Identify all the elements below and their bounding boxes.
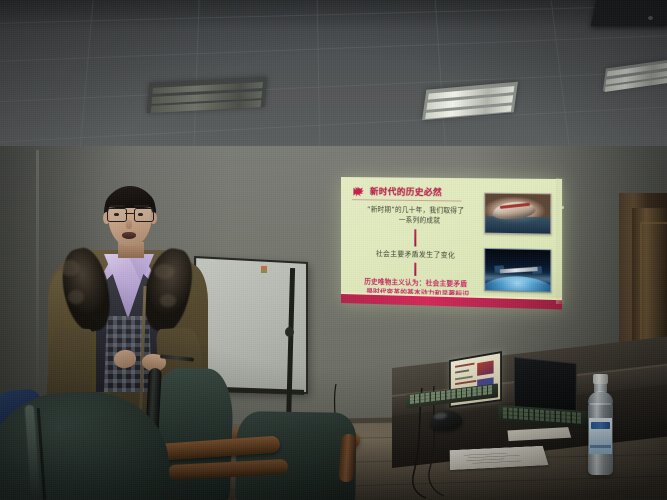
whiteboard-adjust-knob[interactable]: [285, 327, 294, 337]
slide-title: 新时代的历史必然: [370, 185, 442, 198]
bottle-label-text: [591, 422, 610, 429]
presenter-nose: [126, 220, 132, 229]
wall-corner-edge: [36, 150, 39, 390]
screen-highlight-dot: [561, 206, 564, 209]
slide-line-1: “新时期”的几十年，我们取得了: [355, 205, 477, 216]
down-arrow-2-icon: [414, 263, 417, 276]
bottle-label-stripe: [590, 445, 611, 448]
projected-slide: 新时代的历史必然 “新时期”的几十年，我们取得了 一系列的成就 社会主要矛盾发生…: [341, 177, 562, 310]
bottle-neck: [594, 383, 607, 392]
presenter-mouth-speaking: [122, 232, 136, 239]
ceiling-tile-grid: [0, 0, 667, 152]
slide-title-underline: [352, 199, 461, 201]
slide-title-row: 新时代的历史必然: [352, 185, 442, 198]
bottle-shoulder: [588, 391, 613, 405]
projector-lens-icon: [648, 16, 653, 20]
chair-right-green[interactable]: [235, 411, 357, 500]
whiteboard-magnet: [261, 266, 267, 273]
screen-right-edge-glow: [556, 178, 565, 304]
photo-sea-layer: [485, 216, 550, 233]
bottle-cap[interactable]: [593, 374, 608, 384]
water-bottle[interactable]: [586, 374, 615, 475]
slide-photo-space-station: [484, 248, 551, 293]
slide-line-2: 一系列的成就: [363, 215, 477, 226]
down-arrow-1-icon: [414, 229, 417, 246]
glasses-bridge: [125, 213, 134, 214]
slide-photo-submersible: [484, 193, 551, 235]
party-emblem-icon: [352, 186, 365, 197]
glasses-lens-right: [134, 208, 154, 222]
ceiling-projector-unit: [591, 0, 667, 26]
presentation-room-photo: 新时代的历史必然 “新时期”的几十年，我们取得了 一系列的成就 社会主要矛盾发生…: [0, 0, 667, 500]
ceiling-light-off-left: [147, 77, 267, 113]
slide-line-3: 社会主要矛盾发生了变化: [355, 248, 477, 261]
